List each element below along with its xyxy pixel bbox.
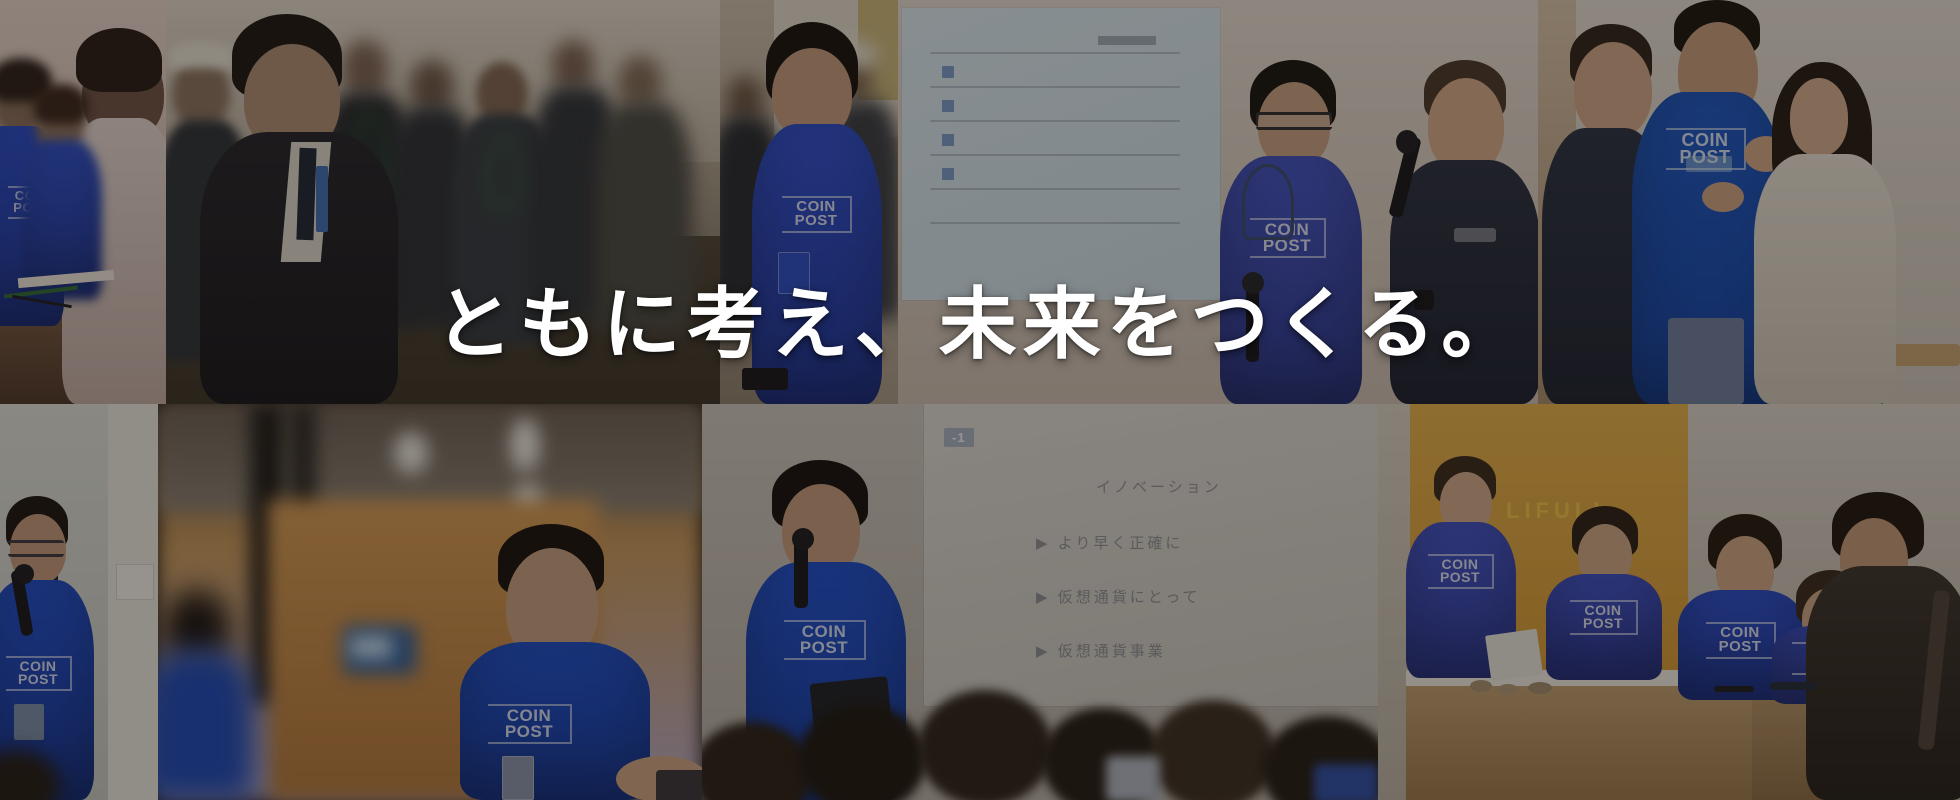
photo-seminar-audience: -1 イノベーション ▶ より早く正確に ▶ 仮想通貨にとって ▶ 仮想通貨事業… xyxy=(702,404,1378,800)
brand-logo-coinpost: COIN POST xyxy=(6,656,72,691)
photo-networking xyxy=(166,0,720,404)
brand-logo-coinpost: COIN POST xyxy=(1706,622,1776,659)
slide-bullet-2: ▶ 仮想通貨にとって xyxy=(1036,586,1201,607)
brand-logo-coinpost: COIN POST xyxy=(1570,600,1638,635)
brand-logo-coinpost: COIN POST xyxy=(784,620,866,660)
slide-section-tag: -1 xyxy=(944,428,974,447)
brand-logo-coinpost: COIN POST xyxy=(782,196,852,233)
projector-slide xyxy=(902,8,1220,300)
brand-logo-coinpost: COIN POST xyxy=(488,704,572,744)
collage-row-bottom: COIN POST xyxy=(0,404,1960,800)
photo-mic-presenter: COIN POST xyxy=(0,404,158,800)
photo-signing-desk: COIN POST xyxy=(0,0,166,404)
photo-panel-talk: COIN POST xyxy=(898,0,1538,404)
photo-office-corridor: COIN POST xyxy=(158,404,702,800)
photo-collage: COIN POST xyxy=(0,0,1960,800)
brand-logo-coinpost: COIN POST xyxy=(1428,554,1494,589)
slide-bullet-1: ▶ より早く正確に xyxy=(1036,532,1183,553)
photo-reception-counter: LIFULL COIN POST COIN POST xyxy=(1378,404,1960,800)
photo-speaker-hoodie: COIN POST xyxy=(720,0,898,404)
collage-row-top: COIN POST xyxy=(0,0,1960,404)
projector-slide: -1 イノベーション ▶ より早く正確に ▶ 仮想通貨にとって ▶ 仮想通貨事業 xyxy=(924,404,1378,706)
slide-heading: イノベーション xyxy=(1096,476,1222,497)
slide-bullet-3: ▶ 仮想通貨事業 xyxy=(1036,640,1166,661)
hero-banner: COIN POST xyxy=(0,0,1960,800)
photo-hallway-chat: COIN POST xyxy=(1538,0,1960,404)
